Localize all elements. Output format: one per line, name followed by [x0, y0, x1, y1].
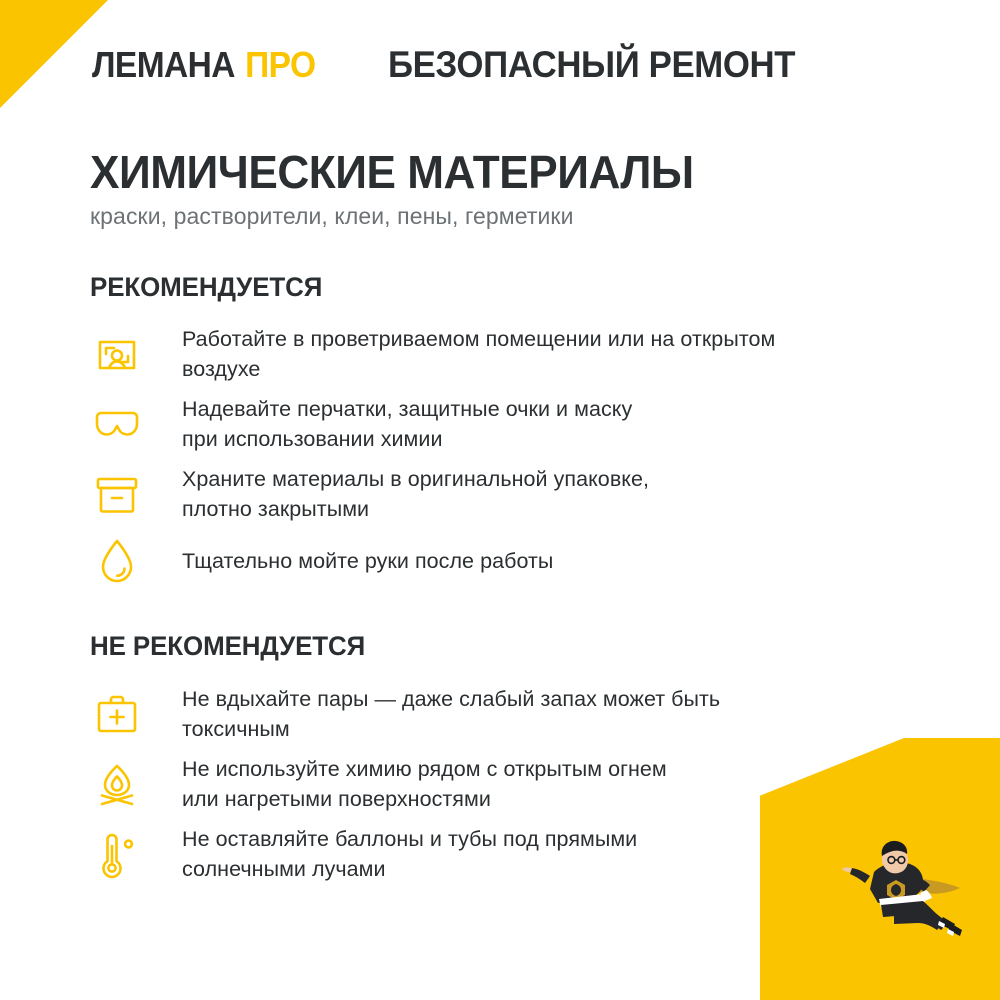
list-item-text: Не вдыхайте пары — даже слабый запах мож…	[146, 682, 898, 744]
list-item-line1: Не оставляйте баллоны и тубы под прямыми	[182, 827, 637, 851]
list-item-line2: или нагретыми поверхностями	[182, 784, 898, 814]
water-drop-icon	[88, 532, 146, 590]
list-item: Надевайте перчатки, защитные очки и маск…	[88, 392, 898, 454]
flying-superhero-mascot	[812, 832, 982, 952]
storage-box-icon	[88, 466, 146, 524]
logo-accent-text: ПРО	[245, 44, 315, 86]
list-item-line1: Храните материалы в оригинальной упаковк…	[182, 467, 649, 491]
list-item: Не оставляйте баллоны и тубы под прямыми…	[88, 822, 898, 884]
list-item-text: Работайте в проветриваемом помещении или…	[146, 322, 898, 384]
list-item-line1: Тщательно мойте руки после работы	[182, 549, 553, 573]
safety-goggles-icon	[88, 396, 146, 454]
lemana-pro-logo: ЛЕМАНА ПРО	[92, 44, 315, 86]
list-item-text: Храните материалы в оригинальной упаковк…	[146, 462, 898, 524]
list-item-line1: Не вдыхайте пары — даже слабый запах мож…	[182, 687, 720, 711]
campfire-flame-icon	[88, 756, 146, 814]
poster-header: ЛЕМАНА ПРО БЕЗОПАСНЫЙ РЕМОНТ	[92, 40, 821, 90]
list-item-text: Надевайте перчатки, защитные очки и маск…	[146, 392, 898, 454]
list-item-line2: токсичным	[182, 714, 898, 744]
section-title-not-recommended: НЕ РЕКОМЕНДУЕТСЯ	[90, 631, 365, 662]
ventilation-window-icon	[88, 326, 146, 384]
campaign-title: БЕЗОПАСНЫЙ РЕМОНТ	[388, 44, 795, 86]
list-item: Не вдыхайте пары — даже слабый запах мож…	[88, 682, 898, 744]
list-item-text: Тщательно мойте руки после работы	[146, 532, 898, 576]
list-item: Не используйте химию рядом с открытым ог…	[88, 752, 898, 814]
not-recommended-list: Не вдыхайте пары — даже слабый запах мож…	[88, 682, 898, 892]
list-item-line1: Надевайте перчатки, защитные очки и маск…	[182, 397, 632, 421]
list-item-line2: воздухе	[182, 354, 898, 384]
recommended-list: Работайте в проветриваемом помещении или…	[88, 322, 898, 598]
section-title-recommended: РЕКОМЕНДУЕТСЯ	[90, 272, 322, 303]
logo-main-text: ЛЕМАНА	[92, 44, 235, 86]
list-item-line1: Работайте в проветриваемом помещении или…	[182, 327, 775, 351]
poster-canvas: ЛЕМАНА ПРО БЕЗОПАСНЫЙ РЕМОНТ ХИМИЧЕСКИЕ …	[0, 0, 1000, 1000]
thermometer-sun-icon	[88, 826, 146, 884]
first-aid-kit-icon	[88, 686, 146, 744]
list-item-line2: при использовании химии	[182, 424, 898, 454]
list-item-text: Не оставляйте баллоны и тубы под прямыми…	[146, 822, 898, 884]
list-item: Работайте в проветриваемом помещении или…	[88, 322, 898, 384]
list-item-line1: Не используйте химию рядом с открытым ог…	[182, 757, 667, 781]
list-item: Тщательно мойте руки после работы	[88, 532, 898, 590]
list-item-line2: плотно закрытыми	[182, 494, 898, 524]
page-subtitle: краски, растворители, клеи, пены, гермет…	[90, 203, 574, 230]
list-item-line2: солнечными лучами	[182, 854, 898, 884]
list-item: Храните материалы в оригинальной упаковк…	[88, 462, 898, 524]
list-item-text: Не используйте химию рядом с открытым ог…	[146, 752, 898, 814]
page-title: ХИМИЧЕСКИЕ МАТЕРИАЛЫ	[90, 145, 694, 199]
